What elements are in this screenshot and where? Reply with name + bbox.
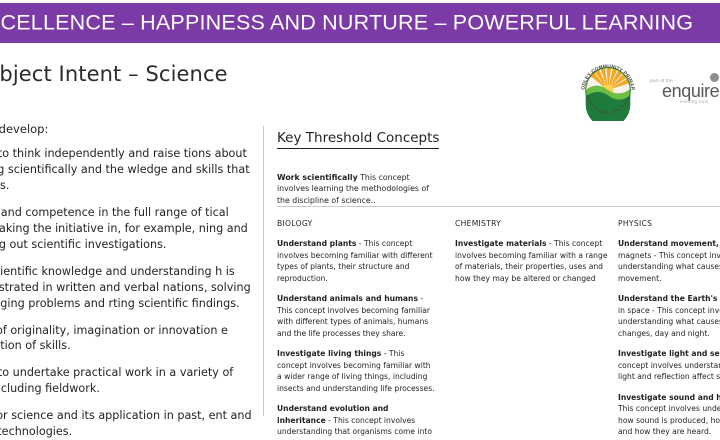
intent-item: ability to undertake practical work in a… [0,365,260,397]
concept-item: Investigate living things - This concept… [277,348,435,394]
intent-heading: ils will develop: [0,122,260,136]
biology-column: BIOLOGY Understand plants - This concept… [277,219,435,440]
chemistry-heading: CHEMISTRY [455,219,613,228]
concept-item: Understand evolution and inheritance - T… [277,403,435,440]
header-banner-text: XCELLENCE – HAPPINESS AND NURTURE – POWE… [0,11,693,36]
key-threshold-concepts-title: Key Threshold Concepts [277,130,439,149]
work-scientifically-concept: Work scientifically This concept involve… [277,172,439,207]
concept-item: Understand movement, forces and magnets … [618,238,720,284]
concept-term: Understand the Earth's movement [618,294,720,303]
subject-intent-column: ils will develop: ability to think indep… [0,122,260,440]
concept-term: Understand movement, forces [618,239,720,248]
chemistry-column: CHEMISTRY Investigate materials - This c… [455,219,613,293]
concept-description: in space - This concept involves underst… [618,306,720,338]
concept-term: Work scientifically [277,173,358,182]
trust-dot-large [710,73,719,82]
concept-term: Investigate living things [277,349,381,358]
page-title: ubject Intent – Science [0,62,228,86]
intent-item: idence and competence in the full range … [0,205,260,253]
concept-item: Understand plants - This concept involve… [277,238,435,284]
enquire-learning-trust-logo: part of the enquire learning trust [648,69,720,109]
trust-subtitle: learning trust [680,99,708,104]
intent-item: levels of originality, imagination or in… [0,323,260,355]
concept-term: Investigate materials [455,239,546,248]
intent-item: ability to think independently and raise… [0,146,260,194]
intent-item: llent scientific knowledge and understan… [0,264,260,312]
intent-item: ssion for science and its application in… [0,408,260,440]
concept-term: Investigate light and seeing [618,349,720,358]
vertical-divider [263,126,264,416]
godley-community-primary-crest-icon: GODLEY COMMUNITY PRIMARY Believe to Achi… [577,59,639,121]
concept-item: Understand animals and humans - This con… [277,293,435,339]
concept-term: Understand animals and humans [277,294,418,303]
concept-term: Understand plants [277,239,356,248]
concept-item: Investigate sound and hearing - This con… [618,392,720,438]
biology-heading: BIOLOGY [277,219,435,228]
physics-heading: PHYSICS [618,219,720,228]
header-banner: XCELLENCE – HAPPINESS AND NURTURE – POWE… [0,3,720,43]
concept-item: Understand the Earth's movement in space… [618,293,720,339]
document-page: XCELLENCE – HAPPINESS AND NURTURE – POWE… [0,0,720,440]
concept-term: Investigate sound and hearing [618,393,720,402]
concept-item: Investigate materials - This concept inv… [455,238,613,284]
concept-item: Investigate light and seeing - This conc… [618,348,720,383]
physics-column: PHYSICS Understand movement, forces and … [618,219,720,440]
